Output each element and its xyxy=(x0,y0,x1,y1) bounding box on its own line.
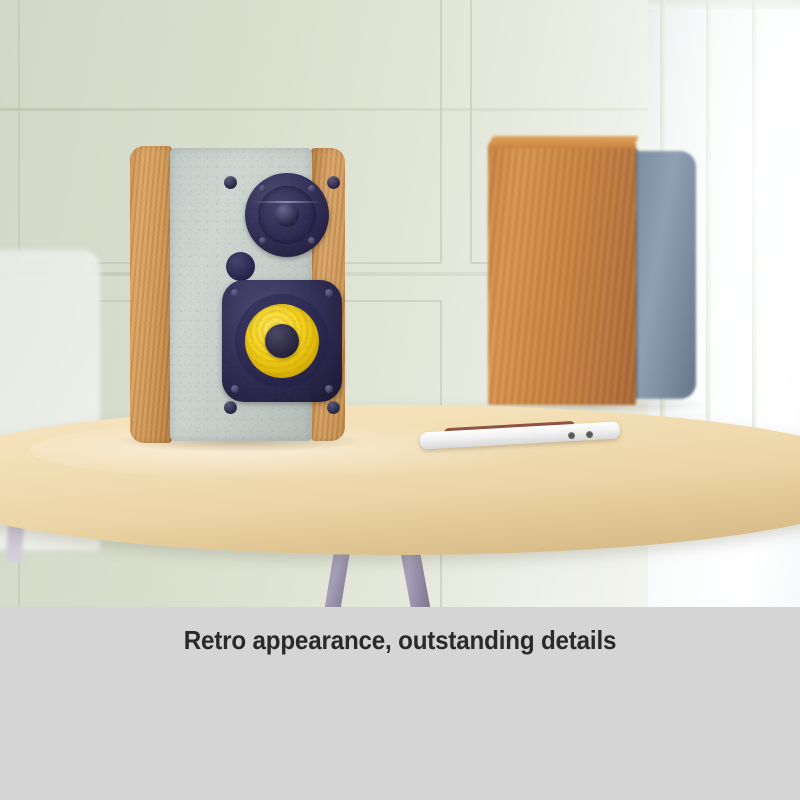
banner-headline: Retro appearance, outstanding details xyxy=(28,625,772,656)
woofer-screw xyxy=(325,385,333,393)
speaker-rear xyxy=(488,143,688,408)
woofer-screw xyxy=(231,289,239,297)
product-promo-page: Retro appearance, outstanding details 1 … xyxy=(0,0,800,800)
woofer-surround xyxy=(235,294,329,388)
woofer-dust-cap xyxy=(265,324,299,358)
baffle-screw xyxy=(224,401,237,414)
woofer-screw xyxy=(325,289,333,297)
baffle-screw xyxy=(224,176,237,189)
woofer-cone xyxy=(245,304,319,378)
tweeter-bar xyxy=(253,201,321,203)
tweeter-screw xyxy=(308,185,315,192)
woofer-driver xyxy=(222,280,342,402)
tweeter-ring xyxy=(258,186,316,244)
speaker-front-wood-side-left xyxy=(130,146,172,443)
product-photo xyxy=(0,0,800,607)
tweeter-screw xyxy=(308,237,315,244)
tweeter-screw xyxy=(259,185,266,192)
woofer-screw xyxy=(231,385,239,393)
speaker-front-baffle xyxy=(170,148,312,441)
speaker-rear-back-panel xyxy=(634,151,696,399)
baffle-screw xyxy=(327,401,340,414)
speaker-front xyxy=(130,146,345,443)
tweeter-driver xyxy=(245,173,329,257)
wall-rail xyxy=(0,108,660,111)
tweeter-dome xyxy=(275,203,299,227)
tweeter-screw xyxy=(259,237,266,244)
speaker-rear-wood-side xyxy=(488,143,636,405)
speaker-rear-top xyxy=(487,136,639,148)
bass-port xyxy=(226,252,255,281)
baffle-screw xyxy=(327,176,340,189)
feature-banner: Retro appearance, outstanding details 1 … xyxy=(0,607,800,800)
